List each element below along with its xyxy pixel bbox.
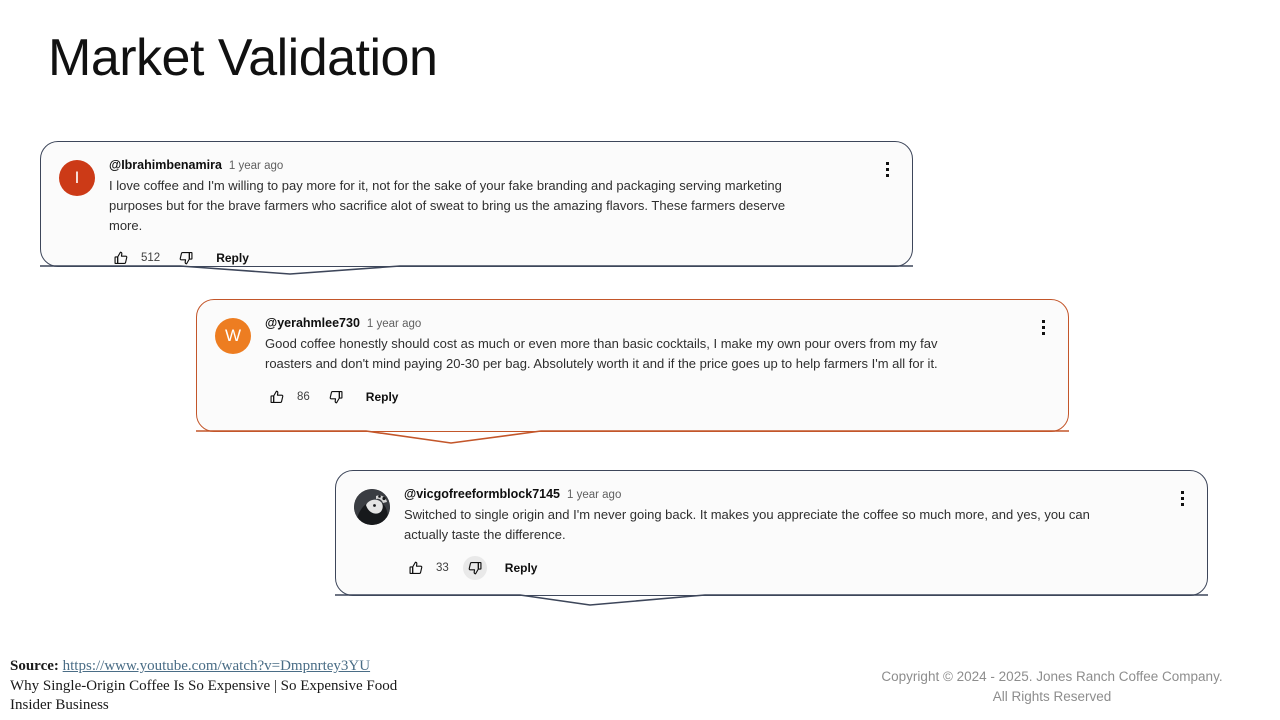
comment-text: I love coffee and I'm willing to pay mor…	[109, 176, 819, 235]
more-options-icon[interactable]	[878, 158, 896, 180]
comment-timestamp: 1 year ago	[229, 160, 283, 172]
slide-canvas: Market Validation I @Ibrahimbenamira 1 y…	[0, 0, 1280, 720]
thumbs-down-icon[interactable]	[463, 556, 487, 580]
reply-button[interactable]: Reply	[505, 561, 538, 575]
comment-card-2[interactable]: W @yerahmlee730 1 year ago Good coffee h…	[196, 299, 1069, 432]
comment-actions: 512 Reply	[109, 246, 894, 270]
comment-text: Good coffee honestly should cost as much…	[265, 334, 965, 374]
comment-actions: 33 Reply	[404, 556, 1189, 580]
comment-actions: 86 Reply	[265, 385, 1050, 409]
thumbs-up-icon[interactable]	[404, 556, 428, 580]
reply-button[interactable]: Reply	[216, 251, 249, 265]
thumbs-down-icon[interactable]	[174, 246, 198, 270]
thumbs-down-icon[interactable]	[324, 385, 348, 409]
comment-meta: @Ibrahimbenamira 1 year ago	[109, 158, 894, 172]
page-title: Market Validation	[48, 29, 437, 89]
comment-card-3[interactable]: @vicgofreeformblock7145 1 year ago Switc…	[335, 470, 1208, 596]
comment-timestamp: 1 year ago	[367, 318, 421, 330]
source-subtitle: Why Single-Origin Coffee Is So Expensive…	[10, 677, 430, 716]
more-options-icon[interactable]	[1173, 487, 1191, 509]
source-label: Source:	[10, 658, 59, 674]
reply-button[interactable]: Reply	[366, 390, 399, 404]
thumbs-up-icon[interactable]	[109, 246, 133, 270]
source-citation: Source: https://www.youtube.com/watch?v=…	[10, 657, 430, 716]
comment-meta: @vicgofreeformblock7145 1 year ago	[404, 487, 1189, 501]
comment-author-handle[interactable]: @yerahmlee730	[265, 316, 360, 330]
copyright-line-2: All Rights Reserved	[842, 687, 1262, 707]
more-options-icon[interactable]	[1034, 316, 1052, 338]
like-count: 86	[297, 391, 310, 403]
copyright-line-1: Copyright © 2024 - 2025. Jones Ranch Cof…	[842, 667, 1262, 687]
thumbs-up-icon[interactable]	[265, 385, 289, 409]
avatar[interactable]: W	[215, 318, 251, 354]
comment-card-2-tail	[196, 430, 1069, 454]
comment-meta: @yerahmlee730 1 year ago	[265, 316, 1050, 330]
copyright-notice: Copyright © 2024 - 2025. Jones Ranch Cof…	[842, 667, 1262, 708]
like-count: 33	[436, 562, 449, 574]
comment-card-3-tail	[335, 594, 1208, 618]
comment-card-1[interactable]: I @Ibrahimbenamira 1 year ago I love cof…	[40, 141, 913, 267]
source-link[interactable]: https://www.youtube.com/watch?v=Dmpnrtey…	[63, 658, 370, 674]
avatar[interactable]	[354, 489, 390, 525]
comment-author-handle[interactable]: @Ibrahimbenamira	[109, 158, 222, 172]
avatar[interactable]: I	[59, 160, 95, 196]
avatar-initial: I	[75, 168, 80, 188]
avatar-initial: W	[225, 326, 241, 346]
comment-timestamp: 1 year ago	[567, 489, 621, 501]
comment-text: Switched to single origin and I'm never …	[404, 505, 1119, 545]
comment-author-handle[interactable]: @vicgofreeformblock7145	[404, 487, 560, 501]
like-count: 512	[141, 252, 160, 264]
